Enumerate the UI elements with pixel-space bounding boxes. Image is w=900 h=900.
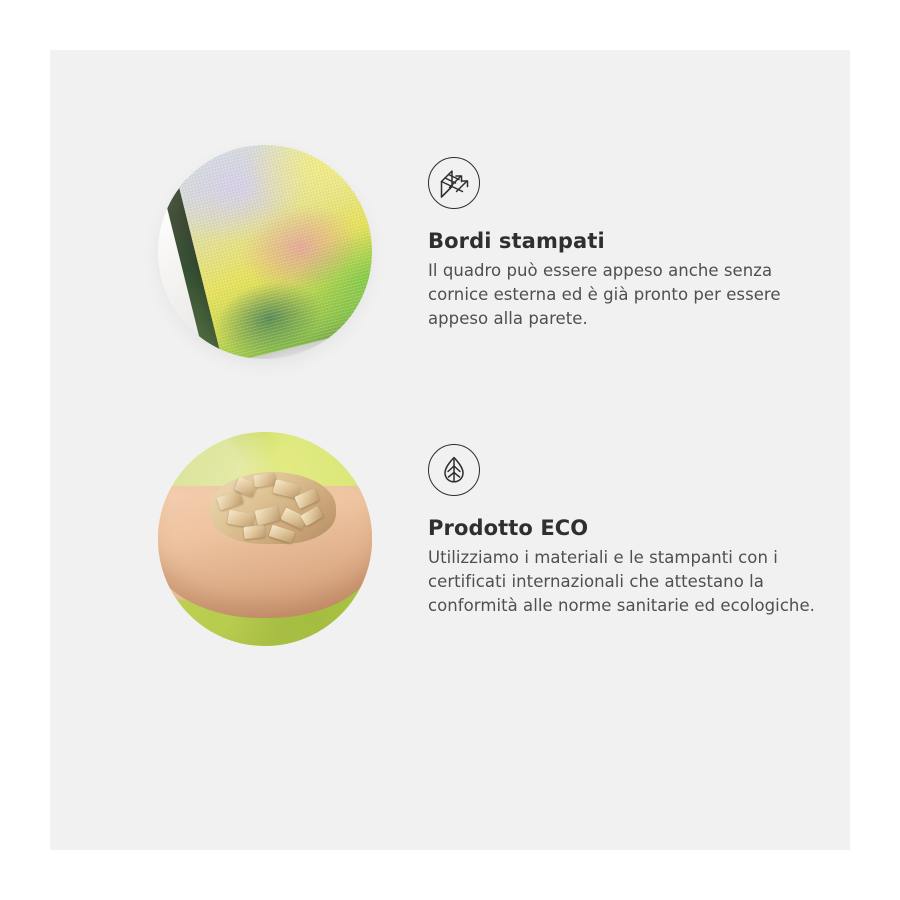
product-feature-infographic: Bordi stampati Il quadro può essere appe… — [0, 0, 900, 900]
feature-title: Prodotto ECO — [428, 516, 823, 540]
wood-chip — [269, 525, 296, 544]
feature-text-printed-edges: Bordi stampati Il quadro può essere appe… — [428, 157, 823, 331]
wrapped-canvas-edge-icon — [428, 157, 480, 209]
feature-title: Bordi stampati — [428, 229, 823, 253]
feature-printed-edges: Bordi stampati Il quadro può essere appe… — [50, 145, 850, 445]
feature-description: Il quadro può essere appeso anche senza … — [428, 259, 823, 331]
feature-text-eco-product: Prodotto ECO Utilizziamo i materiali e l… — [428, 444, 823, 618]
wood-chip — [255, 505, 281, 525]
wood-chips-pile — [210, 472, 336, 544]
wood-chip — [217, 491, 244, 511]
wood-chips-in-hands-photo — [158, 432, 372, 646]
feature-description: Utilizziamo i materiali e le stampanti c… — [428, 546, 823, 618]
content-panel: Bordi stampati Il quadro può essere appe… — [50, 50, 850, 850]
wood-chip — [300, 506, 323, 526]
canvas-corner-photo — [158, 145, 372, 359]
feature-eco-product: Prodotto ECO Utilizziamo i materiali e l… — [50, 432, 850, 732]
leaf-icon — [428, 444, 480, 496]
wood-chip — [243, 525, 265, 539]
wood-chip — [253, 473, 276, 488]
